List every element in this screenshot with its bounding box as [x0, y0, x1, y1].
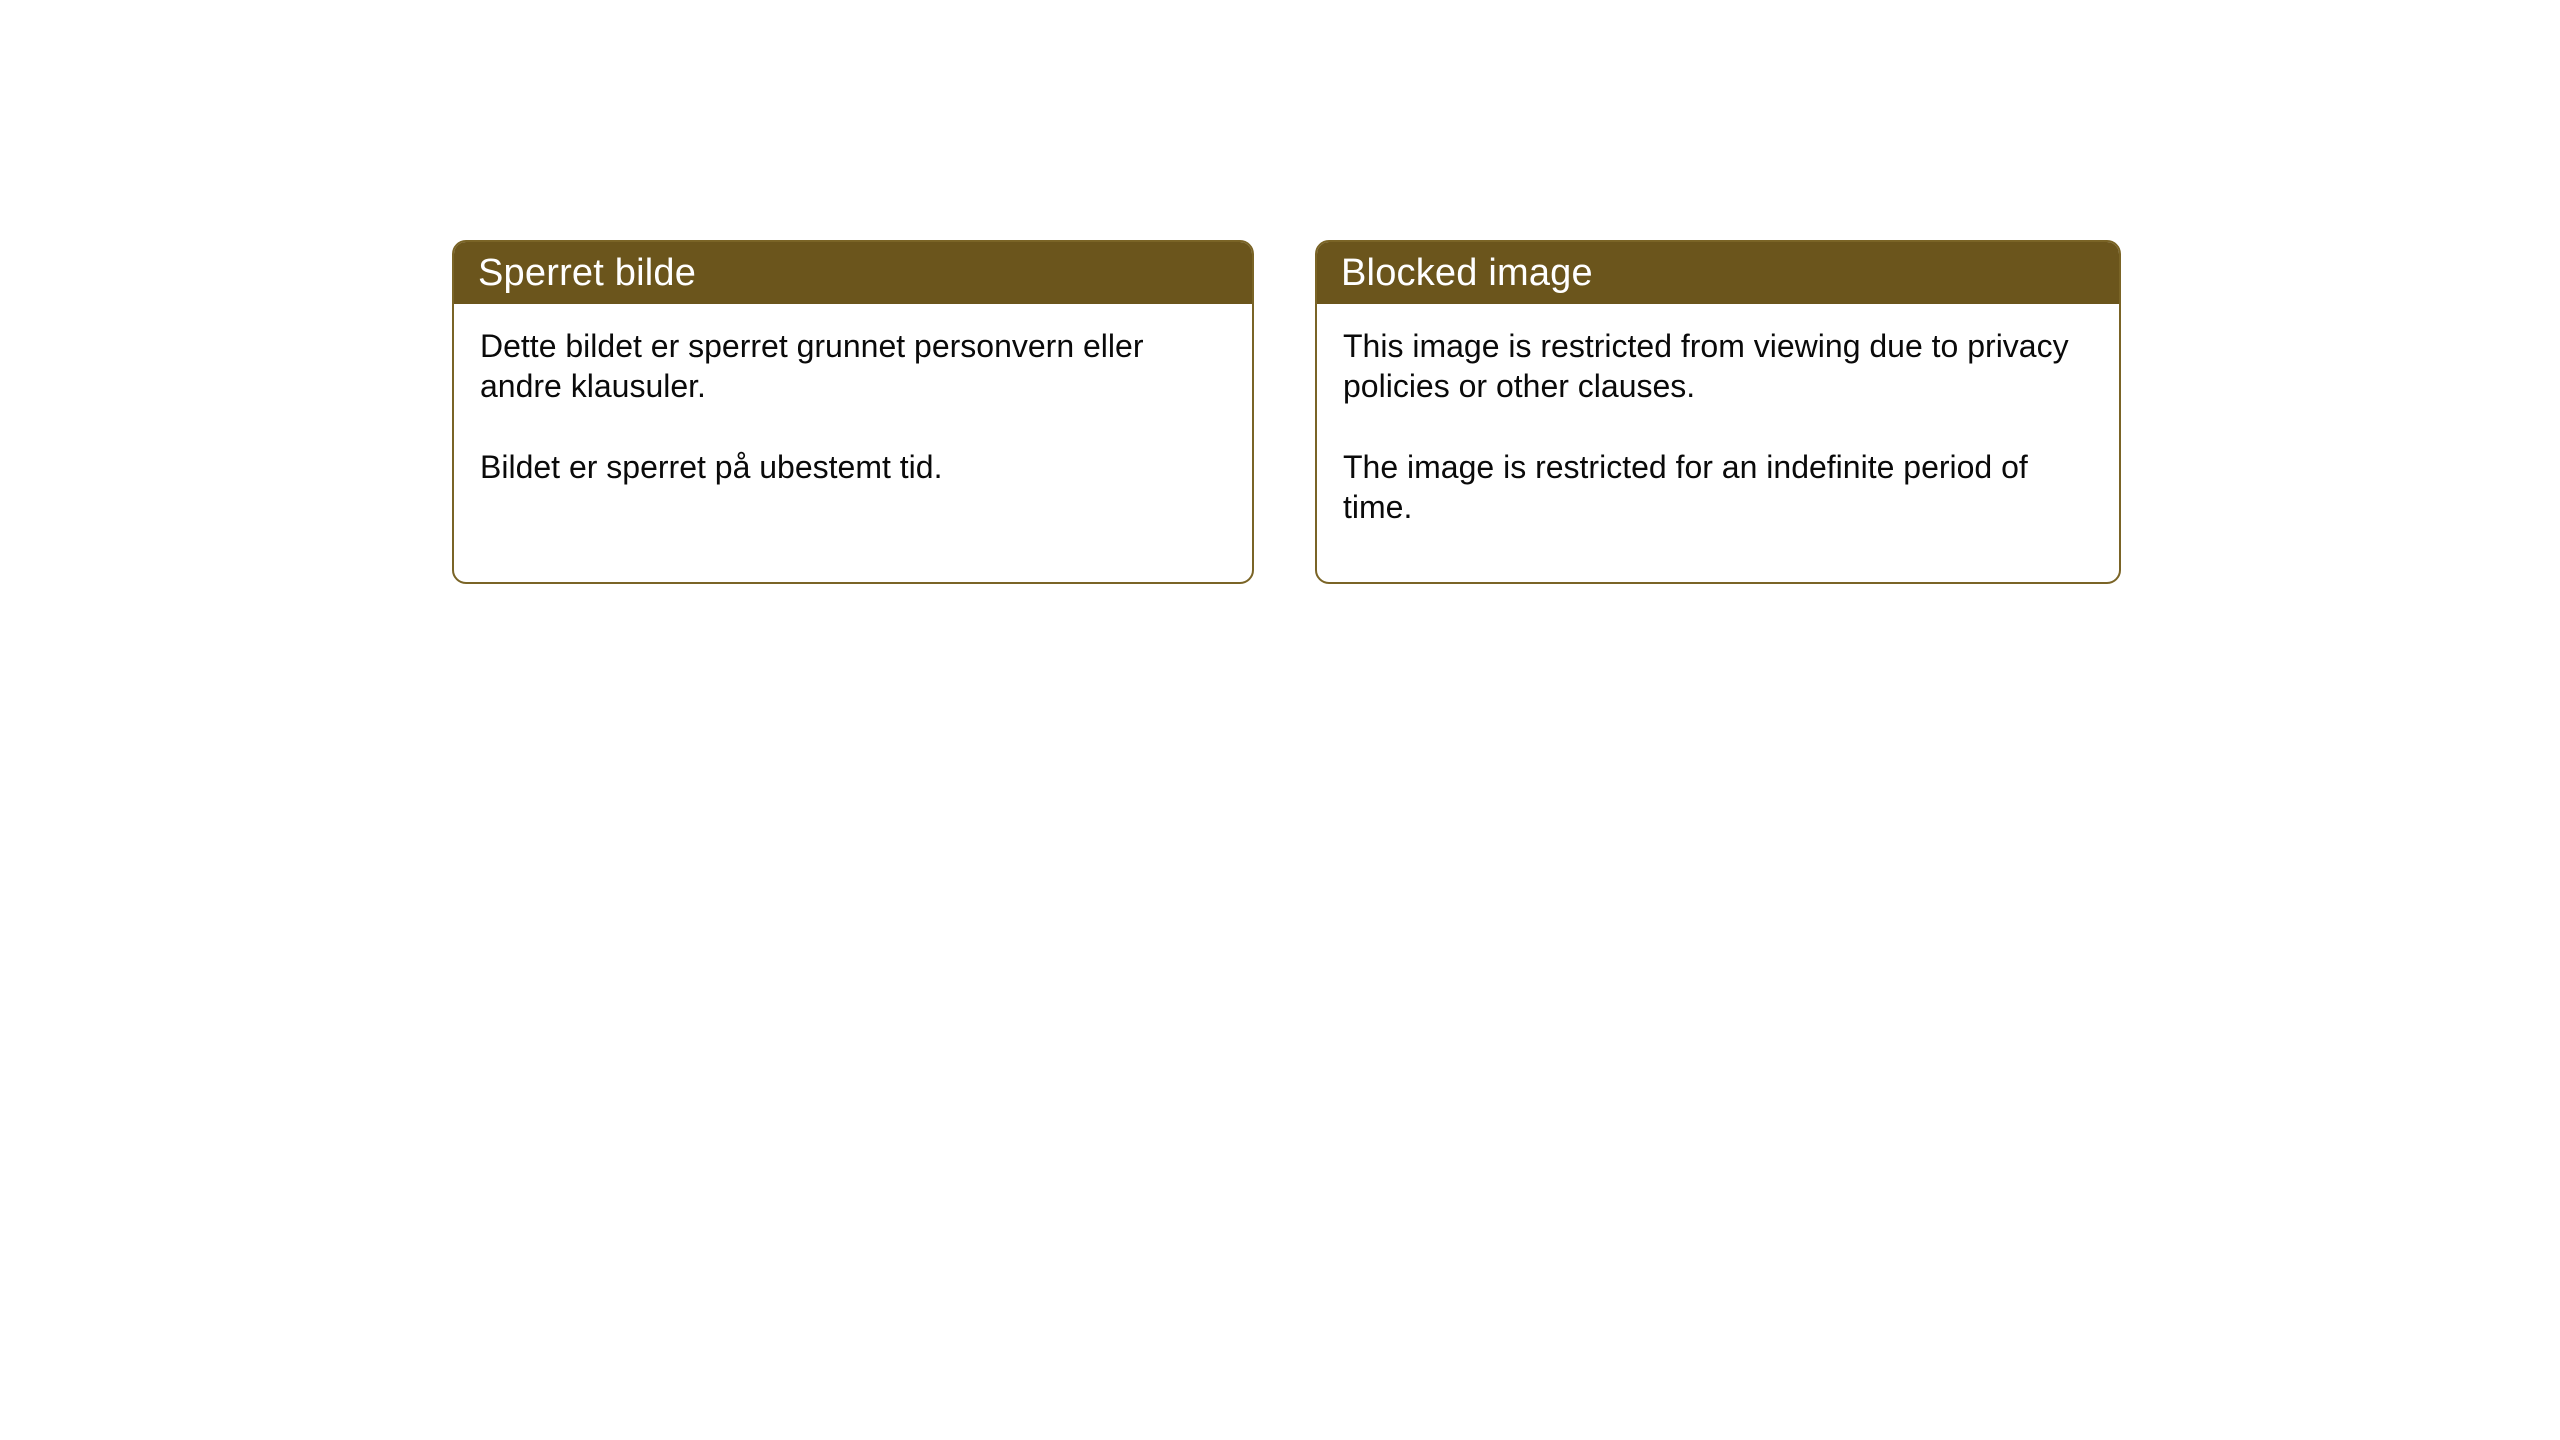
blocked-image-card-norwegian: Sperret bilde Dette bildet er sperret gr… [452, 240, 1254, 584]
card-title-norwegian: Sperret bilde [478, 254, 696, 292]
card-paragraph-primary-norwegian: Dette bildet er sperret grunnet personve… [480, 326, 1226, 407]
card-paragraph-secondary-english: The image is restricted for an indefinit… [1343, 447, 2093, 528]
card-title-english: Blocked image [1341, 254, 1593, 292]
card-body-english: This image is restricted from viewing du… [1317, 304, 2119, 527]
card-paragraph-secondary-norwegian: Bildet er sperret på ubestemt tid. [480, 447, 1226, 487]
card-body-norwegian: Dette bildet er sperret grunnet personve… [454, 304, 1252, 487]
blocked-image-notice-area: Sperret bilde Dette bildet er sperret gr… [0, 0, 2560, 1440]
card-header-norwegian: Sperret bilde [454, 242, 1252, 304]
card-header-english: Blocked image [1317, 242, 2119, 304]
card-paragraph-primary-english: This image is restricted from viewing du… [1343, 326, 2093, 407]
blocked-image-card-english: Blocked image This image is restricted f… [1315, 240, 2121, 584]
